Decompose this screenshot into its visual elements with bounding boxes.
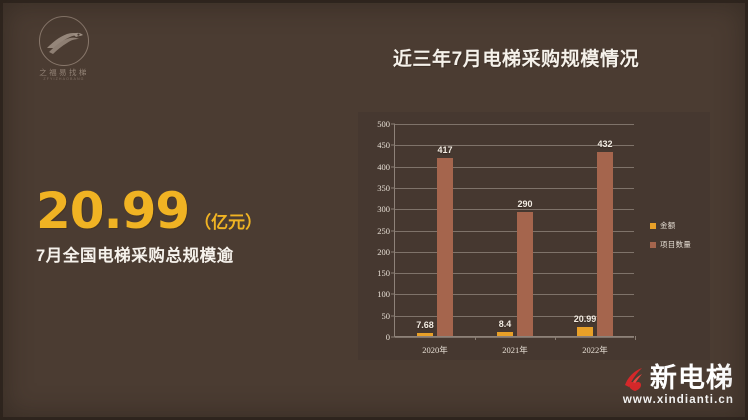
y-axis-tick-label: 450 xyxy=(377,140,390,150)
bar-data-label: 417 xyxy=(437,145,452,155)
legend-label: 项目数量 xyxy=(660,239,691,250)
watermark-url: www.xindianti.cn xyxy=(623,394,734,406)
bar-group: 20.994322022年 xyxy=(555,124,635,336)
bar-data-label: 7.68 xyxy=(416,320,434,330)
legend-item-项目数量[interactable]: 项目数量 xyxy=(650,239,691,250)
bar-项目数量[interactable]: 290 xyxy=(517,212,533,336)
slide-canvas: 之福易找梯 ZFYIZHAOBANG 20.99 （亿元） 7月全国电梯采购总规… xyxy=(0,0,748,420)
bar-金额[interactable]: 7.68 xyxy=(417,333,433,336)
y-axis-tick-label: 400 xyxy=(377,162,390,172)
headline-subtitle: 7月全国电梯采购总规模逾 xyxy=(36,248,336,265)
watermark: 新电梯 www.xindianti.cn xyxy=(623,365,734,406)
legend-swatch-icon xyxy=(650,223,656,229)
x-axis-tick-label: 2022年 xyxy=(582,344,608,356)
chart-plot-frame: 0501001502002503003504004505007.68417202… xyxy=(394,124,634,337)
headline-row: 20.99 （亿元） xyxy=(36,186,336,236)
x-axis-tick-mark xyxy=(555,336,556,340)
watermark-text: 新电梯 xyxy=(650,365,734,392)
bar-金额[interactable]: 20.99 xyxy=(577,327,593,336)
bar-chart: 0501001502002503003504004505007.68417202… xyxy=(358,112,710,360)
bar-data-label: 8.4 xyxy=(499,319,512,329)
y-axis-tick-label: 100 xyxy=(377,289,390,299)
bar-group: 8.42902021年 xyxy=(475,124,555,336)
y-axis-tick-label: 150 xyxy=(377,268,390,278)
chart-title: 近三年7月电梯采购规模情况 xyxy=(366,44,666,71)
bar-group: 7.684172020年 xyxy=(395,124,475,336)
bar-项目数量[interactable]: 432 xyxy=(597,152,613,336)
headline-value: 20.99 xyxy=(36,186,189,236)
brand-logo: 之福易找梯 ZFYIZHAOBANG xyxy=(18,16,110,92)
bar-data-label: 432 xyxy=(597,139,612,149)
x-axis-tick-mark xyxy=(635,336,636,340)
eagle-bird-in-circle-logo-icon xyxy=(39,16,89,66)
bar-data-label: 290 xyxy=(517,199,532,209)
x-axis-tick-label: 2021年 xyxy=(502,344,528,356)
y-axis-tick-label: 300 xyxy=(377,204,390,214)
gridline xyxy=(395,337,634,338)
x-axis-tick-mark xyxy=(475,336,476,340)
watermark-row: 新电梯 xyxy=(623,365,734,392)
chart-plot-area: 0501001502002503003504004505007.68417202… xyxy=(394,124,634,337)
bar-金额[interactable]: 8.4 xyxy=(497,332,513,336)
y-axis-tick-label: 200 xyxy=(377,247,390,257)
y-axis-tick-label: 250 xyxy=(377,226,390,236)
brand-name-cn: 之福易找梯 xyxy=(18,69,110,77)
y-axis-tick-label: 50 xyxy=(382,311,391,321)
headline-block: 20.99 （亿元） 7月全国电梯采购总规模逾 xyxy=(36,186,336,265)
headline-unit: （亿元） xyxy=(194,214,262,231)
y-axis-tick-label: 0 xyxy=(386,332,390,342)
legend-swatch-icon xyxy=(650,242,656,248)
red-brush-stroke-logo-icon xyxy=(623,366,647,392)
bar-data-label: 20.99 xyxy=(574,314,597,324)
x-axis-tick-label: 2020年 xyxy=(422,344,448,356)
legend-item-金额[interactable]: 金额 xyxy=(650,220,691,231)
bar-项目数量[interactable]: 417 xyxy=(437,158,453,336)
legend-label: 金额 xyxy=(660,220,676,231)
y-axis-tick-mark xyxy=(391,337,395,338)
chart-legend: 金额项目数量 xyxy=(650,220,691,258)
brand-name-en: ZFYIZHAOBANG xyxy=(18,77,110,82)
y-axis-tick-label: 500 xyxy=(377,119,390,129)
y-axis-tick-label: 350 xyxy=(377,183,390,193)
